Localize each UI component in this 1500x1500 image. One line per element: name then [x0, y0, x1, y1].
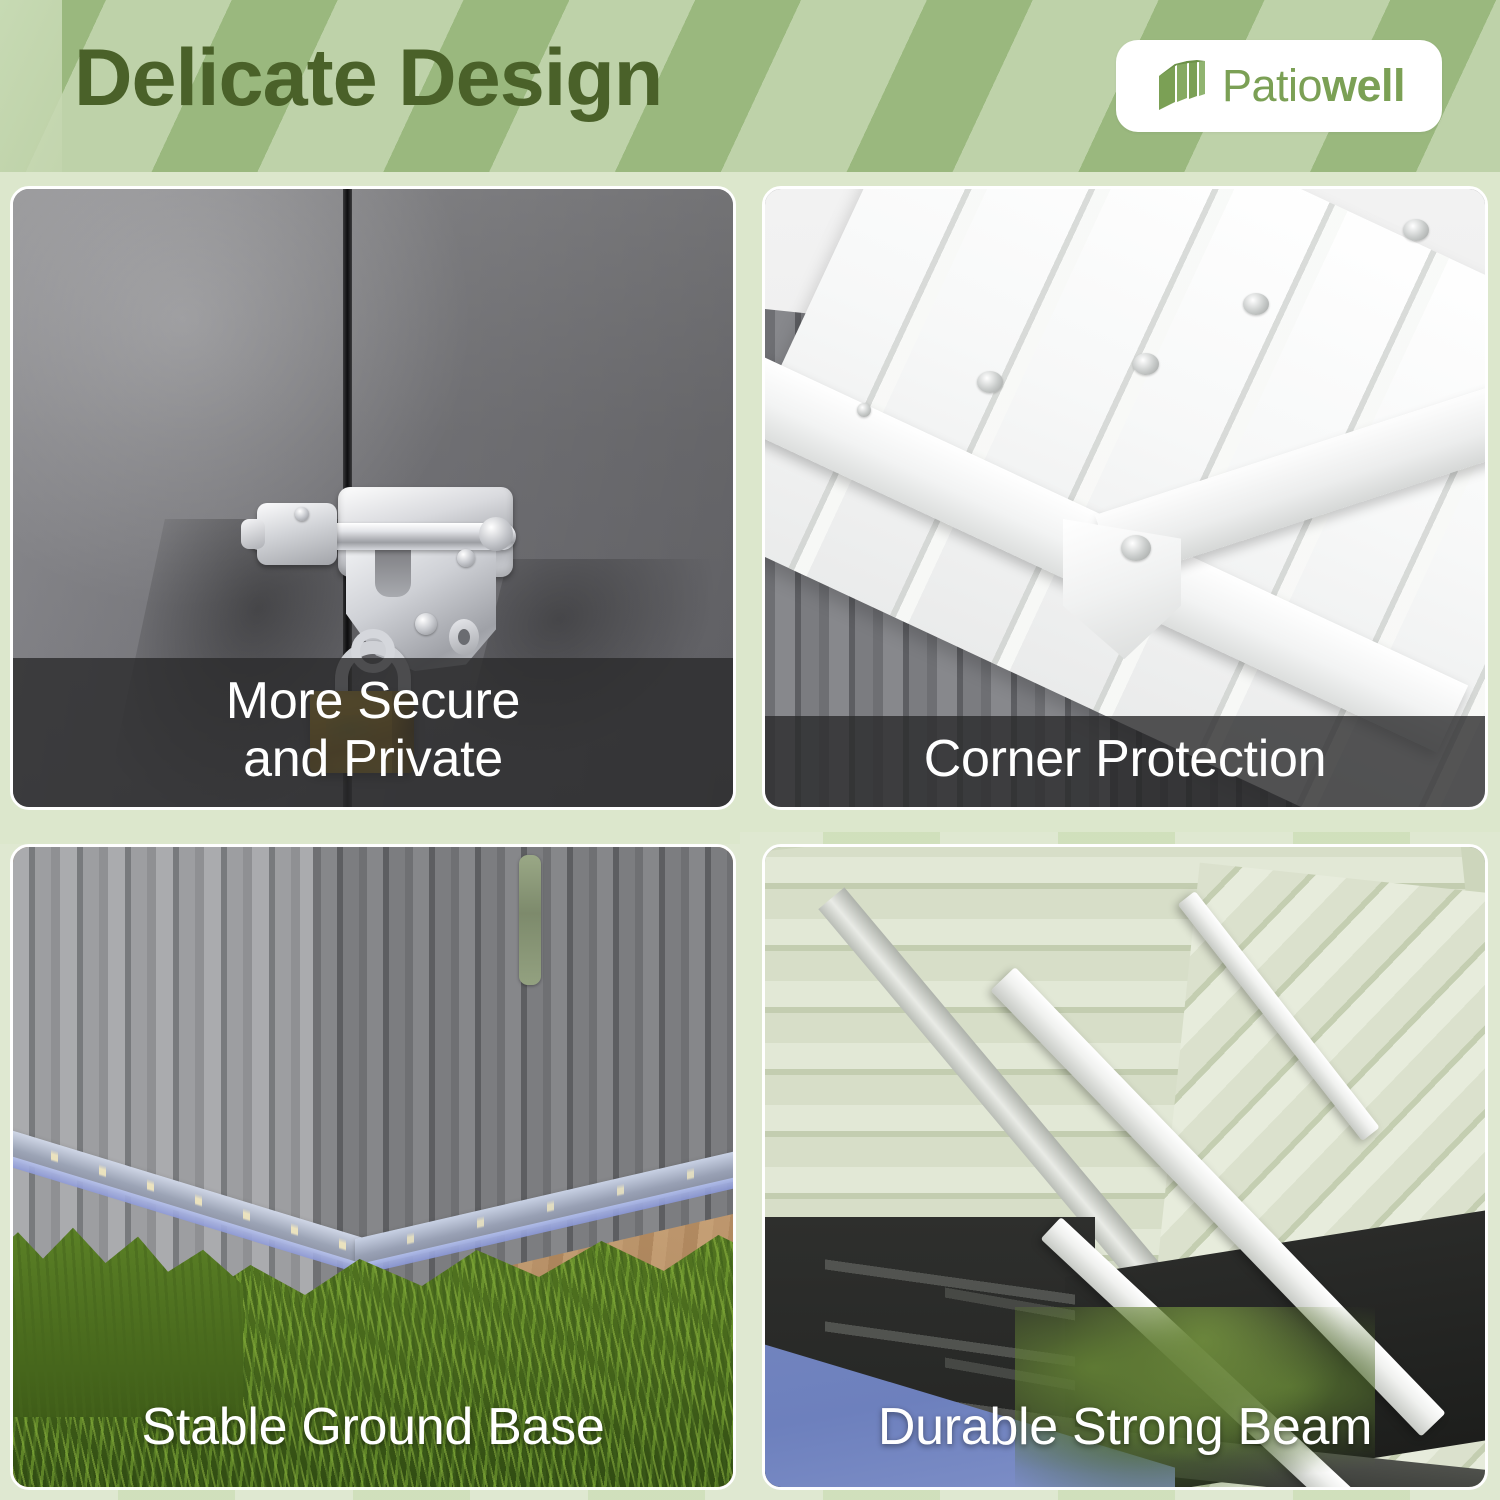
brand-logo-text: Patiowell [1222, 60, 1405, 112]
scene-roof-corner-protection [765, 189, 1485, 807]
panel-caption: More Secure and Private [13, 658, 733, 808]
header: Delicate Design Patiowell [0, 0, 1500, 180]
feature-panel-more-secure-and-private[interactable]: More Secure and Private [10, 186, 736, 810]
corner-cap-screw [1121, 535, 1151, 561]
page-title: Delicate Design [74, 38, 662, 119]
roof-screw [1133, 353, 1159, 375]
latch-side-knob [479, 517, 513, 551]
latch-keyhole-eye [449, 619, 479, 655]
roof-screw [977, 371, 1003, 393]
latch-rivet [457, 549, 475, 567]
roof-screw [1243, 293, 1269, 315]
feature-panel-durable-strong-beam[interactable]: Durable Strong Beam [762, 844, 1488, 1490]
latch-rivet [295, 507, 309, 521]
latch-rivet [415, 613, 437, 635]
logo-text-regular: Patio [1222, 60, 1322, 111]
slide-bolt-end-knob [241, 519, 265, 549]
panel-caption: Corner Protection [765, 716, 1485, 807]
feature-panel-stable-ground-base[interactable]: Stable Ground Base [10, 844, 736, 1490]
door-hinge [519, 855, 541, 985]
panel-caption: Stable Ground Base [13, 1384, 733, 1487]
brand-logo-badge: Patiowell [1116, 40, 1442, 132]
panel-caption: Durable Strong Beam [765, 1384, 1485, 1487]
layered-roof-panels-icon [1153, 58, 1209, 114]
feature-panel-grid: More Secure and Private Corner Protectio… [0, 0, 1500, 1500]
logo-text-bold: well [1322, 60, 1405, 111]
feature-panel-corner-protection[interactable]: Corner Protection [762, 186, 1488, 810]
roof-screw [1403, 219, 1429, 241]
wall-screw [857, 403, 871, 417]
